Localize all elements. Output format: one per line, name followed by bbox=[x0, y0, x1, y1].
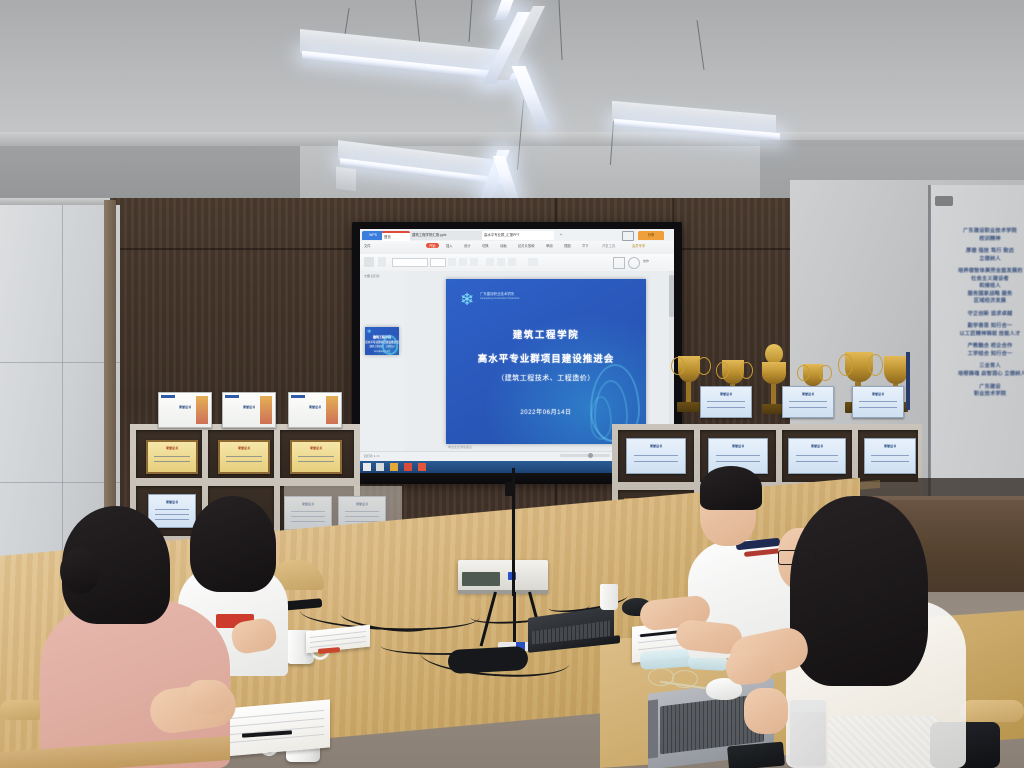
certificate-blue: 荣誉证书 bbox=[864, 438, 916, 474]
meeting-room-photo: 广东建设职业技术学院校训精神厚德 强技 笃行 致远立德树人培养德智体美劳全面发展… bbox=[0, 0, 1024, 768]
bold-icon[interactable] bbox=[448, 258, 456, 266]
slide-subtitle: 高水平专业群项目建设推进会 bbox=[446, 351, 646, 365]
ribbon-tab-view[interactable]: 视图 bbox=[564, 243, 571, 248]
taskbar-explorer-icon[interactable] bbox=[390, 463, 398, 471]
notes-placeholder[interactable]: 单击此处添加备注 bbox=[448, 445, 472, 449]
trophy-handle bbox=[819, 365, 832, 381]
italic-icon[interactable] bbox=[459, 258, 467, 266]
wall-slogan-line: 培养德智体美劳全面发展的 bbox=[958, 268, 1022, 276]
align-center-icon[interactable] bbox=[497, 258, 505, 266]
certificate-label: 荣誉证书 bbox=[709, 444, 767, 448]
ribbon-tab-member[interactable]: 会员专享 bbox=[632, 243, 645, 248]
select-icon[interactable] bbox=[628, 257, 640, 269]
wall-slogan-line: 广东建设职业技术学院 bbox=[958, 228, 1022, 236]
taskbar-search-icon[interactable] bbox=[376, 463, 384, 471]
trophy-handle bbox=[868, 354, 883, 376]
trophy-stem bbox=[686, 382, 691, 402]
certificate-label: 荣誉证书 bbox=[853, 392, 903, 396]
app-tab-bar: WPS 首页 建筑工程学院汇报.pptx 高水平专业群_汇报PPT + 分享 bbox=[360, 229, 674, 241]
font-size-select[interactable] bbox=[430, 258, 446, 267]
wall-slogan-line: 广东建设 bbox=[958, 384, 1022, 392]
trophy-handle bbox=[740, 362, 753, 379]
certificate-label: 荣誉证书 bbox=[148, 446, 196, 450]
certificate-frame: 荣誉证书 bbox=[222, 392, 276, 428]
canvas-scrollbar-thumb[interactable] bbox=[669, 275, 674, 317]
trophy bbox=[762, 362, 786, 384]
ribbon-tab-devtools[interactable]: 开发工具 bbox=[602, 243, 615, 248]
certificate-blue: 荣誉证书 bbox=[788, 438, 846, 474]
upgrade-button[interactable]: 分享 bbox=[638, 231, 664, 240]
wall-slogan-line: 厚德 强技 笃行 致远 bbox=[958, 248, 1022, 256]
wall-bracket bbox=[935, 196, 953, 206]
align-right-icon[interactable] bbox=[508, 258, 516, 266]
new-tab-button[interactable]: + bbox=[554, 231, 568, 240]
ribbon-tab-home[interactable]: 开始 bbox=[426, 243, 439, 248]
find-replace-icon[interactable] bbox=[613, 257, 625, 269]
ribbon-tab-slideshow[interactable]: 幻灯片放映 bbox=[518, 243, 534, 248]
laptop-silver-hinge bbox=[648, 699, 658, 758]
trophy-column bbox=[906, 352, 910, 410]
certificate-label: 荣誉证书 bbox=[789, 444, 845, 448]
certificate-frame: 荣誉证书 bbox=[288, 392, 342, 428]
thumbnail-pane-label: 大纲 幻灯片 bbox=[364, 274, 380, 278]
certificate-label: 荣誉证书 bbox=[627, 444, 685, 448]
trophy-stem bbox=[771, 384, 776, 404]
certificate-gold: 荣誉证书 bbox=[218, 440, 270, 474]
certificate-frame: 荣誉证书 bbox=[158, 392, 212, 428]
certificate-label: 荣誉证书 bbox=[865, 444, 915, 448]
wall-slogan-line: 和接班人 bbox=[958, 283, 1022, 291]
wall-slogan-text: 广东建设职业技术学院校训精神厚德 强技 笃行 致远立德树人培养德智体美劳全面发展… bbox=[958, 228, 1022, 399]
wall-panel-seam bbox=[0, 362, 120, 363]
certificate-blue: 荣誉证书 bbox=[782, 386, 834, 418]
collaborate-button[interactable]: 协作 bbox=[643, 259, 649, 263]
slide-date: 2022年06月14日 bbox=[446, 407, 646, 416]
ribbon-tab-review[interactable]: 审阅 bbox=[546, 243, 553, 248]
slide-parenthetical: （建筑工程技术、工程造价） bbox=[446, 373, 646, 383]
trophy-handle bbox=[716, 362, 729, 379]
certificate-label: 荣誉证书 bbox=[220, 446, 268, 450]
format-painter-icon[interactable] bbox=[378, 257, 386, 267]
wall-slogan-line: 守正创新 追求卓越 bbox=[958, 311, 1022, 319]
cable-bundle bbox=[447, 646, 528, 674]
app-logo-tab[interactable]: WPS bbox=[362, 231, 384, 240]
trophy-handle bbox=[697, 357, 711, 375]
ribbon-tab-section[interactable]: 章节 bbox=[582, 243, 589, 248]
person-1-hand bbox=[186, 680, 230, 714]
wall-slogan-line: 职业技术学院 bbox=[958, 391, 1022, 399]
ribbon-tab-transition[interactable]: 切换 bbox=[482, 243, 489, 248]
wall-slogan-line: 以工匠精神铸就 技能人才 bbox=[958, 331, 1022, 339]
font-family-select[interactable] bbox=[392, 258, 428, 267]
wall-slogan-line: 培根铸魂 启智润心 立德树人 bbox=[958, 371, 1022, 379]
institution-logo-icon: ❄ bbox=[460, 289, 476, 311]
wall-slogan-line: 立德树人 bbox=[958, 256, 1022, 264]
person-4-hair bbox=[790, 496, 928, 686]
ribbon-tab-strip: 文件 开始 插入 设计 切换 动画 幻灯片放映 审阅 视图 章节 开发工具 会员… bbox=[360, 241, 674, 255]
tripod-column bbox=[512, 468, 515, 596]
align-left-icon[interactable] bbox=[486, 258, 494, 266]
wall-slogan-line: 产教融合 校企合作 bbox=[958, 343, 1022, 351]
trophy-handle bbox=[838, 354, 853, 376]
projector-ports bbox=[462, 572, 500, 586]
certificate-blue: 荣誉证书 bbox=[700, 386, 752, 418]
trophy-handle bbox=[671, 357, 685, 375]
wall-panel-seam bbox=[0, 482, 120, 483]
slide-title: 建筑工程学院 bbox=[446, 327, 646, 341]
person-2-hair bbox=[190, 496, 276, 592]
certificate-label: 荣誉证书 bbox=[701, 392, 751, 396]
start-button-icon[interactable] bbox=[363, 463, 371, 471]
line-spacing-icon[interactable] bbox=[528, 258, 538, 266]
slide-thumbnail-pane[interactable]: 大纲 幻灯片 ❄ 建筑工程学院 高水平专业群项目建设推进会 （建筑工程技术、工程… bbox=[360, 271, 405, 451]
trophy-globe bbox=[765, 344, 783, 364]
slide-thumbnail-1[interactable]: ❄ 建筑工程学院 高水平专业群项目建设推进会 （建筑工程技术、工程造价） 202… bbox=[365, 327, 399, 355]
tab-document-1[interactable]: 建筑工程学院汇报.pptx bbox=[410, 231, 482, 240]
eyeglasses-frame bbox=[778, 550, 798, 565]
taskbar-app-icon[interactable] bbox=[404, 463, 412, 471]
projector-base bbox=[458, 590, 548, 594]
wall-slogan-line: 勤学善思 知行合一 bbox=[958, 323, 1022, 331]
zoom-slider[interactable] bbox=[560, 454, 610, 457]
person-4-hand bbox=[744, 688, 788, 734]
paste-icon[interactable] bbox=[364, 257, 374, 267]
underline-icon[interactable] bbox=[470, 258, 478, 266]
eyeglasses-frame bbox=[796, 550, 816, 565]
person-3-hair bbox=[700, 466, 762, 510]
paper-cup bbox=[600, 584, 618, 610]
tab-document-2-active[interactable]: 高水平专业群_汇报PPT bbox=[482, 231, 554, 240]
trophy-handle bbox=[797, 365, 810, 381]
ribbon-tab-file[interactable]: 文件 bbox=[364, 243, 371, 248]
certificate-label: 荣誉证书 bbox=[292, 446, 340, 450]
certificate-blue: 荣誉证书 bbox=[148, 494, 196, 528]
ribbon-tab-design[interactable]: 设计 bbox=[464, 243, 471, 248]
search-icon[interactable] bbox=[622, 231, 634, 241]
ribbon-tab-animation[interactable]: 动画 bbox=[500, 243, 507, 248]
presentation-slide[interactable]: ❄ 广东建设职业技术学院 Guangdong Construction Poly… bbox=[446, 279, 646, 444]
trophy-base bbox=[677, 402, 700, 412]
ribbon-tab-insert[interactable]: 插入 bbox=[446, 243, 453, 248]
certificate-label: 荣誉证书 bbox=[149, 500, 195, 504]
certificate-blue: 荣誉证书 bbox=[626, 438, 686, 474]
institution-logo-text: 广东建设职业技术学院 bbox=[480, 291, 514, 296]
zoom-slider-handle[interactable] bbox=[588, 453, 593, 458]
notebook bbox=[224, 699, 330, 756]
institution-logo-en: Guangdong Construction Polytechnic bbox=[480, 297, 519, 300]
smartphone[interactable] bbox=[727, 742, 785, 768]
wall-slogan-line: 工学结合 知行合一 bbox=[958, 351, 1022, 359]
certificate-gold: 荣誉证书 bbox=[290, 440, 342, 474]
certificate-label: 荣誉证书 bbox=[783, 392, 833, 396]
wall-slogan-line: 三全育人 bbox=[958, 363, 1022, 371]
eyeglasses-bridge bbox=[794, 555, 798, 557]
chair bbox=[960, 700, 1024, 722]
wall-slogan-line: 区域经济发展 bbox=[958, 298, 1022, 306]
person-1-hair-bun bbox=[60, 548, 100, 594]
taskbar-wps-icon[interactable] bbox=[418, 463, 426, 471]
certificate-gold: 荣誉证书 bbox=[146, 440, 198, 474]
wall-slogan-line: 校训精神 bbox=[958, 236, 1022, 244]
trophy bbox=[884, 356, 908, 384]
ribbon-toolbar: 协作 bbox=[360, 254, 674, 272]
status-slide-count: 幻灯片 1 / 1 bbox=[364, 454, 380, 458]
certificate-blue: 荣誉证书 bbox=[852, 386, 904, 418]
led-fixture-endcap bbox=[336, 167, 356, 191]
